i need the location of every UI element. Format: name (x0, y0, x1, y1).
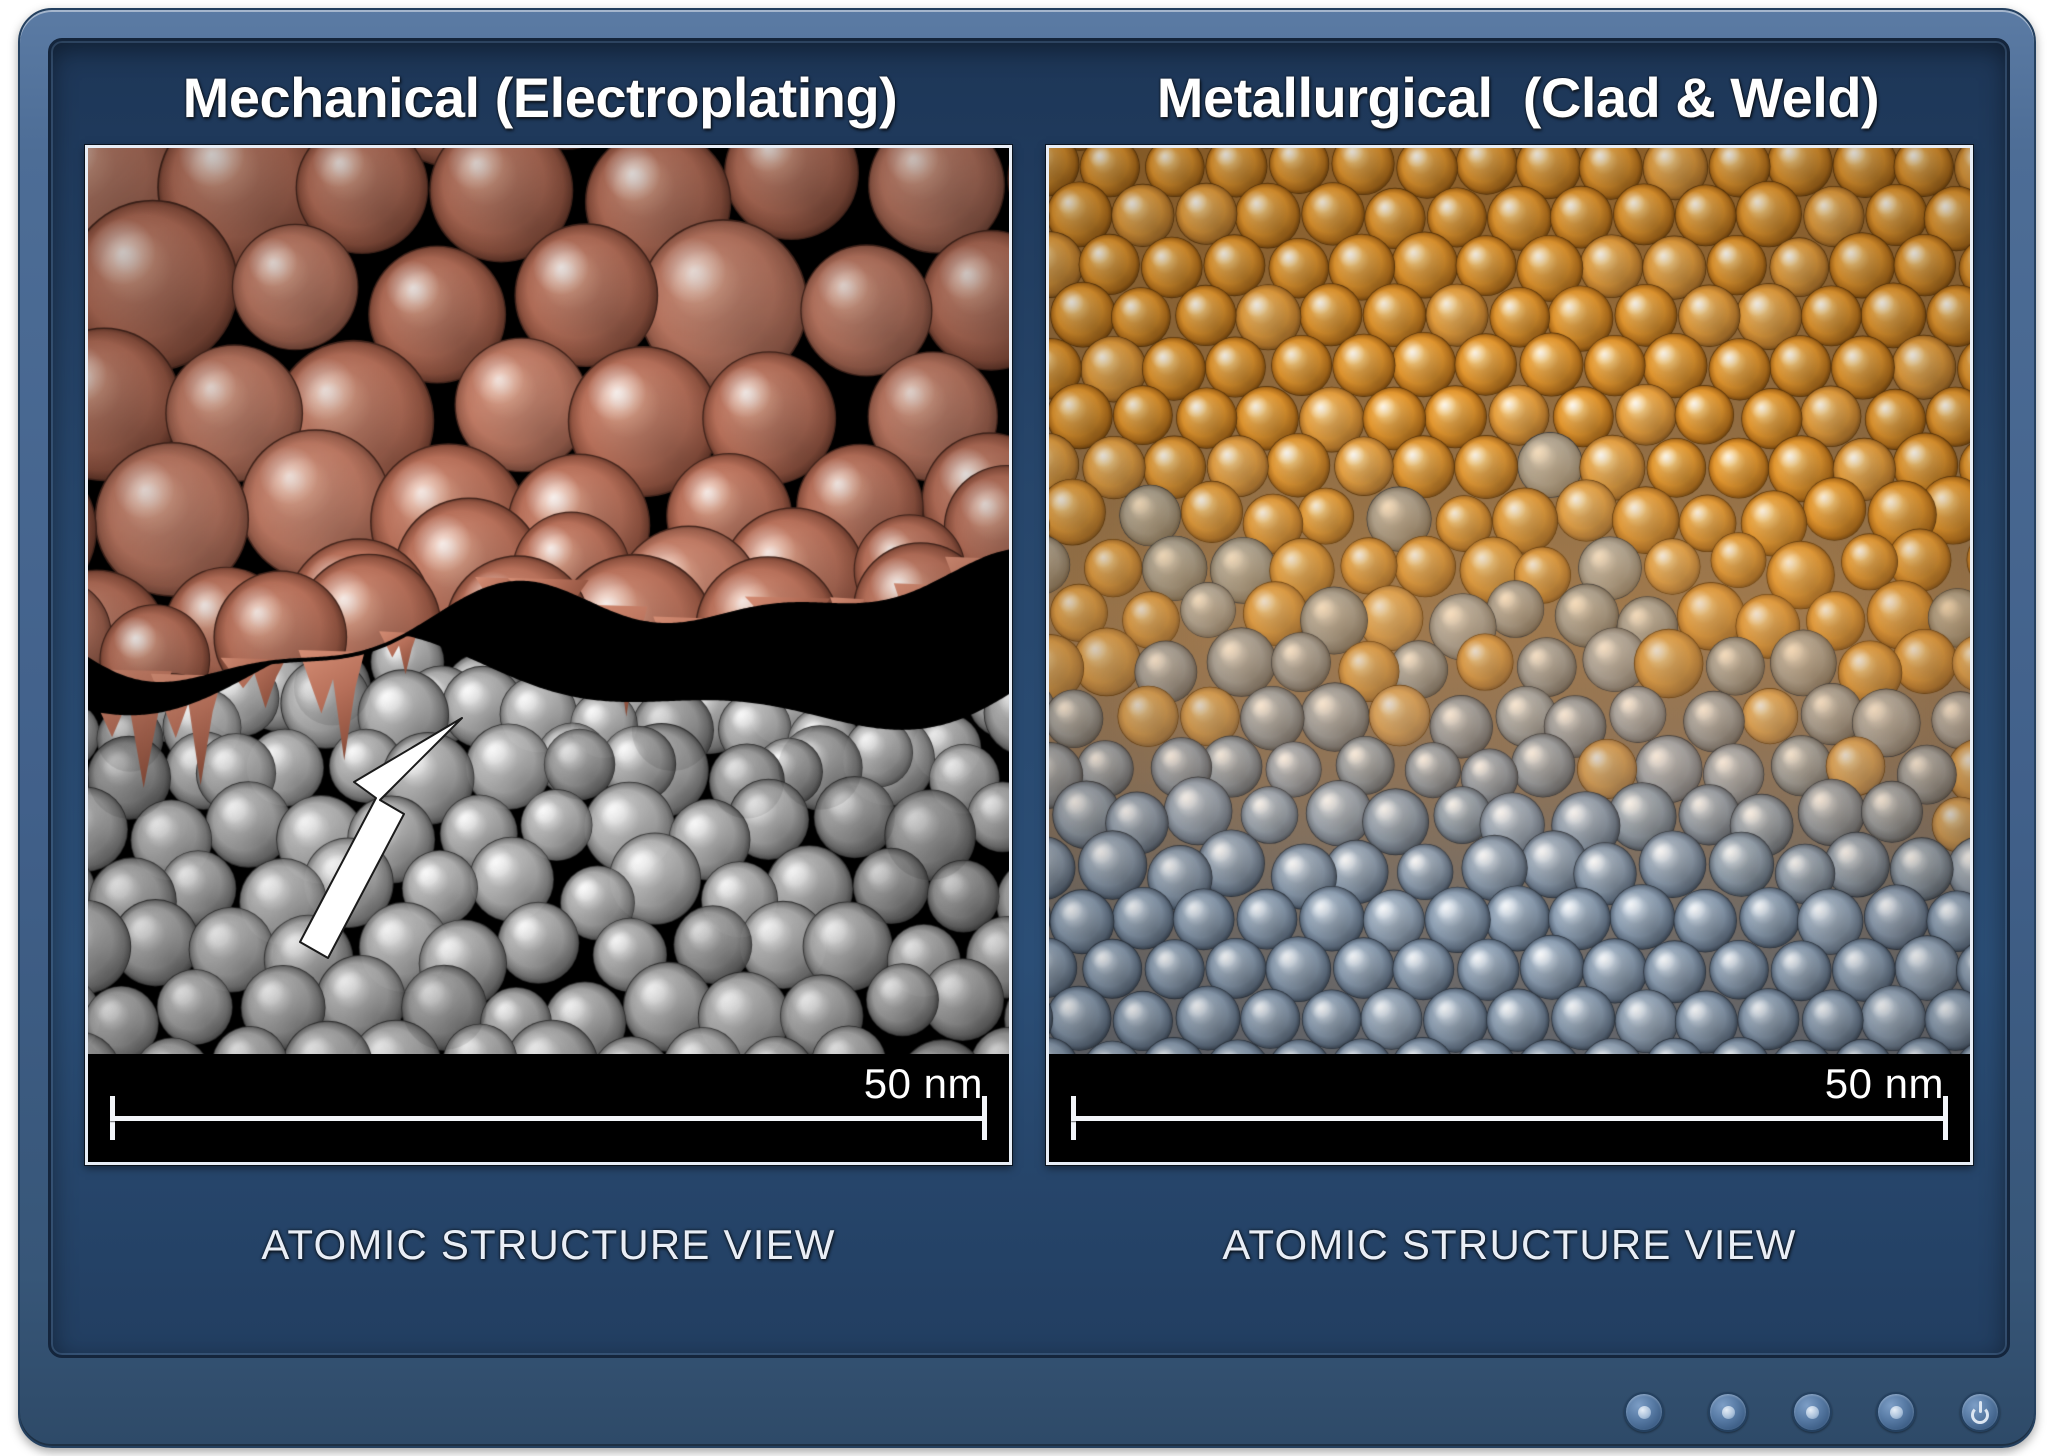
bezel-button-2[interactable] (1708, 1392, 1748, 1432)
dot-icon (1638, 1406, 1651, 1419)
panel-metallurgical: 50 nm ATOMIC STRUCTURE VIEW (1046, 145, 1973, 1358)
bezel-button-3[interactable] (1792, 1392, 1832, 1432)
panel-title-mechanical: Mechanical (Electroplating) (51, 41, 1029, 153)
atomic-view-mechanical[interactable]: 50 nm (85, 145, 1012, 1165)
caption-metallurgical: ATOMIC STRUCTURE VIEW (1046, 1165, 1973, 1325)
panel-mechanical: 50 nm ATOMIC STRUCTURE VIEW (85, 145, 1012, 1358)
screen-area: Mechanical (Electroplating) Metallurgica… (48, 38, 2010, 1358)
scale-line (1071, 1116, 1948, 1121)
power-icon (1969, 1401, 1991, 1423)
scale-bar-rule (110, 1096, 987, 1140)
scale-bar-rule (1071, 1096, 1948, 1140)
scale-bar-metallurgical: 50 nm (1049, 1054, 1970, 1162)
scale-line (110, 1116, 987, 1121)
caption-mechanical: ATOMIC STRUCTURE VIEW (85, 1165, 1012, 1325)
scale-bar-mechanical: 50 nm (88, 1054, 1009, 1162)
dot-icon (1722, 1406, 1735, 1419)
panel-title-metallurgical: Metallurgical (Clad & Weld) (1029, 41, 2007, 153)
panel-headings: Mechanical (Electroplating) Metallurgica… (51, 41, 2007, 153)
dot-icon (1806, 1406, 1819, 1419)
monitor-device: Mechanical (Electroplating) Metallurgica… (18, 8, 2036, 1448)
scale-cap-right (1943, 1096, 1948, 1140)
bezel-power-button[interactable] (1960, 1392, 2000, 1432)
atomic-structure-canvas-metallurgical (1049, 148, 1973, 1162)
bezel-button-row (1624, 1392, 2000, 1432)
dot-icon (1890, 1406, 1903, 1419)
atomic-structure-canvas-mechanical (88, 148, 1012, 1162)
bezel-button-1[interactable] (1624, 1392, 1664, 1432)
panels-container: 50 nm ATOMIC STRUCTURE VIEW 50 nm (51, 145, 2007, 1358)
bezel-button-4[interactable] (1876, 1392, 1916, 1432)
atomic-view-metallurgical[interactable]: 50 nm (1046, 145, 1973, 1165)
scale-cap-right (982, 1096, 987, 1140)
